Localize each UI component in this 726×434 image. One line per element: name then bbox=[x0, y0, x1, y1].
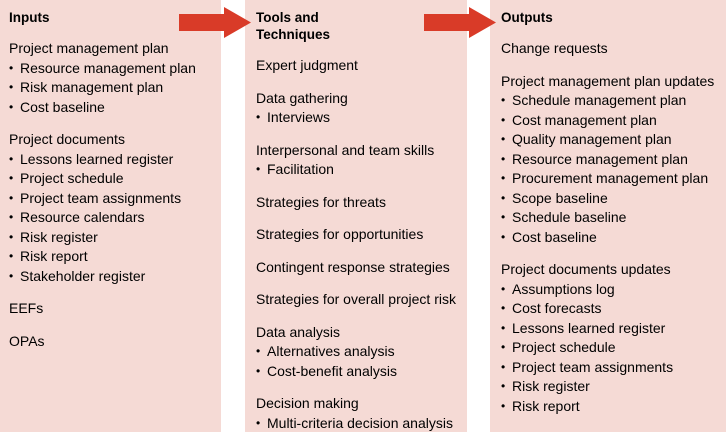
itto-group: Interpersonal and team skillsFacilitatio… bbox=[256, 141, 461, 180]
itto-group-heading: Strategies for overall project risk bbox=[256, 290, 461, 310]
itto-group-heading: Project documents bbox=[9, 130, 215, 150]
itto-group-heading: Contingent response strategies bbox=[256, 258, 461, 278]
itto-group-heading: Decision making bbox=[256, 394, 461, 414]
itto-diagram: Inputs Project management planResource m… bbox=[0, 0, 726, 434]
itto-bullet-item: Assumptions log bbox=[501, 280, 720, 300]
outputs-column-title: Outputs bbox=[501, 9, 720, 26]
itto-group: Contingent response strategies bbox=[256, 258, 461, 278]
itto-group: Strategies for threats bbox=[256, 193, 461, 213]
itto-group-heading: EEFs bbox=[9, 299, 215, 319]
itto-bullet-item: Lessons learned register bbox=[9, 150, 215, 170]
itto-bullet-item: Quality management plan bbox=[501, 130, 720, 150]
itto-bullet-item: Cost management plan bbox=[501, 111, 720, 131]
arrow-right-icon-inputs-to-tools bbox=[179, 7, 251, 38]
itto-bullet-item: Resource management plan bbox=[501, 150, 720, 170]
itto-group: OPAs bbox=[9, 332, 215, 352]
itto-group: Strategies for overall project risk bbox=[256, 290, 461, 310]
itto-bullet-item: Project schedule bbox=[501, 338, 720, 358]
itto-bullet-item: Schedule baseline bbox=[501, 208, 720, 228]
outputs-column: Outputs Change requestsProject managemen… bbox=[490, 0, 726, 432]
itto-group-heading: Project documents updates bbox=[501, 260, 720, 280]
itto-bullet-item: Cost forecasts bbox=[501, 299, 720, 319]
itto-group-heading: Project management plan bbox=[9, 39, 215, 59]
itto-bullet-item: Project team assignments bbox=[501, 358, 720, 378]
itto-bullet-list: Schedule management planCost management … bbox=[501, 91, 720, 247]
inputs-column: Inputs Project management planResource m… bbox=[0, 0, 221, 432]
itto-bullet-list: Lessons learned registerProject schedule… bbox=[9, 150, 215, 287]
itto-bullet-item: Cost baseline bbox=[501, 228, 720, 248]
tools-and-techniques-column: Tools and Techniques Expert judgmentData… bbox=[245, 0, 467, 432]
itto-bullet-item: Cost-benefit analysis bbox=[256, 362, 461, 382]
itto-bullet-list: Alternatives analysisCost-benefit analys… bbox=[256, 342, 461, 381]
itto-group: Data gatheringInterviews bbox=[256, 89, 461, 128]
itto-group: Project management plan updatesSchedule … bbox=[501, 72, 720, 248]
itto-bullet-list: Resource management planRisk management … bbox=[9, 59, 215, 118]
itto-group-heading: Strategies for threats bbox=[256, 193, 461, 213]
itto-bullet-list: Interviews bbox=[256, 108, 461, 128]
itto-bullet-item: Cost baseline bbox=[9, 98, 215, 118]
itto-bullet-item: Risk register bbox=[9, 228, 215, 248]
itto-bullet-item: Risk report bbox=[9, 247, 215, 267]
arrow-right-icon-tools-to-outputs bbox=[424, 7, 496, 38]
itto-group-heading: Expert judgment bbox=[256, 56, 461, 76]
itto-bullet-list: Facilitation bbox=[256, 160, 461, 180]
itto-bullet-item: Procurement management plan bbox=[501, 169, 720, 189]
itto-group: Expert judgment bbox=[256, 56, 461, 76]
itto-bullet-item: Scope baseline bbox=[501, 189, 720, 209]
inputs-groups: Project management planResource manageme… bbox=[9, 39, 215, 351]
itto-group: Data analysisAlternatives analysisCost-b… bbox=[256, 323, 461, 382]
itto-group: Project documentsLessons learned registe… bbox=[9, 130, 215, 286]
itto-bullet-item: Resource calendars bbox=[9, 208, 215, 228]
itto-bullet-item: Facilitation bbox=[256, 160, 461, 180]
itto-group-heading: OPAs bbox=[9, 332, 215, 352]
itto-group: Project documents updatesAssumptions log… bbox=[501, 260, 720, 416]
itto-bullet-item: Schedule management plan bbox=[501, 91, 720, 111]
itto-group-heading: Data gathering bbox=[256, 89, 461, 109]
itto-bullet-item: Project schedule bbox=[9, 169, 215, 189]
itto-group-heading: Interpersonal and team skills bbox=[256, 141, 461, 161]
itto-bullet-item: Risk management plan bbox=[9, 78, 215, 98]
itto-bullet-item: Risk register bbox=[501, 377, 720, 397]
itto-bullet-item: Alternatives analysis bbox=[256, 342, 461, 362]
itto-group: Strategies for opportunities bbox=[256, 225, 461, 245]
tools-groups: Expert judgmentData gatheringInterviewsI… bbox=[256, 56, 461, 433]
itto-bullet-item: Interviews bbox=[256, 108, 461, 128]
itto-group-heading: Strategies for opportunities bbox=[256, 225, 461, 245]
itto-bullet-item: Lessons learned register bbox=[501, 319, 720, 339]
itto-group: EEFs bbox=[9, 299, 215, 319]
itto-bullet-list: Multi-criteria decision analysis bbox=[256, 414, 461, 434]
itto-group: Decision makingMulti-criteria decision a… bbox=[256, 394, 461, 433]
itto-bullet-item: Multi-criteria decision analysis bbox=[256, 414, 461, 434]
itto-bullet-item: Project team assignments bbox=[9, 189, 215, 209]
itto-bullet-item: Resource management plan bbox=[9, 59, 215, 79]
itto-bullet-item: Risk report bbox=[501, 397, 720, 417]
itto-bullet-item: Stakeholder register bbox=[9, 267, 215, 287]
itto-group: Change requests bbox=[501, 39, 720, 59]
itto-group-heading: Data analysis bbox=[256, 323, 461, 343]
outputs-groups: Change requestsProject management plan u… bbox=[501, 39, 720, 416]
itto-group-heading: Project management plan updates bbox=[501, 72, 720, 92]
itto-bullet-list: Assumptions logCost forecastsLessons lea… bbox=[501, 280, 720, 417]
itto-group: Project management planResource manageme… bbox=[9, 39, 215, 117]
itto-group-heading: Change requests bbox=[501, 39, 720, 59]
